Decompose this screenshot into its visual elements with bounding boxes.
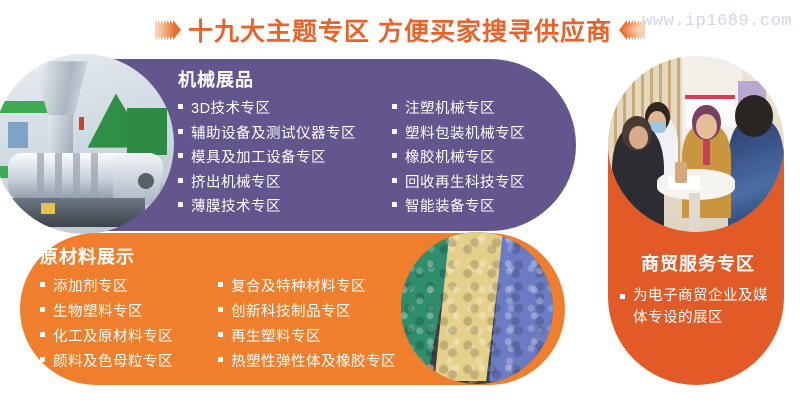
business-meeting-photo (608, 56, 784, 232)
list-item[interactable]: 为电子商贸企业及媒体专设的展区 (620, 286, 776, 330)
list-item-label: 为电子商贸企业及媒体专设的展区 (633, 286, 776, 330)
list-item[interactable]: 生物塑料专区 (40, 300, 218, 321)
list-item-label: 挤出机械专区 (191, 171, 281, 192)
bullet-square-icon (218, 307, 223, 312)
machinery-column-1: 3D技术专区 辅助设备及测试仪器专区 模具及加工设备专区 挤出机械专区 薄膜技术… (178, 97, 392, 220)
bullet-square-icon (392, 153, 397, 158)
list-item[interactable]: 颜料及色母粒专区 (40, 350, 218, 371)
list-item-label: 薄膜技术专区 (191, 195, 281, 216)
list-item-label: 塑料包装机械专区 (405, 122, 525, 143)
list-item[interactable]: 3D技术专区 (178, 97, 392, 118)
machinery-column-2: 注塑机械专区 塑料包装机械专区 橡胶机械专区 回收再生科技专区 智能装备专区 (392, 97, 525, 220)
bullet-square-icon (178, 153, 183, 158)
services-zone-heading: 商贸服务专区 (620, 250, 776, 276)
list-item-label: 3D技术专区 (191, 97, 271, 118)
list-item-label: 回收再生科技专区 (405, 171, 525, 192)
list-item-label: 注塑机械专区 (405, 97, 495, 118)
bullet-square-icon (218, 282, 223, 287)
chevrons-right-icon (155, 17, 176, 43)
bullet-square-icon (178, 129, 183, 134)
list-item[interactable]: 复合及特种材料专区 (218, 275, 396, 296)
list-item-label: 智能装备专区 (405, 195, 495, 216)
site-watermark: www.ip1689.com (642, 12, 792, 31)
list-item[interactable]: 智能装备专区 (392, 195, 525, 216)
bullet-square-icon (40, 307, 45, 312)
materials-column-1: 添加剂专区 生物塑料专区 化工及原材料专区 颜料及色母粒专区 (40, 275, 218, 375)
banner-root: 十九大主题专区 方便买家搜寻供应商 www.ip1689.com (0, 0, 800, 404)
list-item-label: 添加剂专区 (53, 275, 128, 296)
bullet-square-icon (40, 332, 45, 337)
list-item-label: 模具及加工设备专区 (191, 146, 326, 167)
materials-zone-content: 原材料展示 添加剂专区 生物塑料专区 化工及原材料专区 颜料及色母粒专区 (40, 243, 460, 375)
list-item[interactable]: 热塑性弹性体及橡胶专区 (218, 350, 396, 371)
list-item[interactable]: 注塑机械专区 (392, 97, 525, 118)
list-item-label: 颜料及色母粒专区 (53, 350, 173, 371)
list-item-label: 热塑性弹性体及橡胶专区 (231, 350, 396, 371)
list-item-label: 创新科技制品专区 (231, 300, 351, 321)
list-item-label: 辅助设备及测试仪器专区 (191, 122, 356, 143)
bullet-square-icon (178, 104, 183, 109)
list-item[interactable]: 模具及加工设备专区 (178, 146, 392, 167)
bullet-square-icon (40, 282, 45, 287)
list-item[interactable]: 化工及原材料专区 (40, 325, 218, 346)
list-item[interactable]: 薄膜技术专区 (178, 195, 392, 216)
bullet-square-icon (620, 294, 625, 299)
bullet-square-icon (178, 178, 183, 183)
bullet-square-icon (218, 357, 223, 362)
machinery-zone-content: 机械展品 3D技术专区 辅助设备及测试仪器专区 模具及加工设备专区 挤出机械专区 (178, 66, 570, 220)
list-item[interactable]: 塑料包装机械专区 (392, 122, 525, 143)
bullet-square-icon (392, 129, 397, 134)
list-item[interactable]: 再生塑料专区 (218, 325, 396, 346)
list-item-label: 橡胶机械专区 (405, 146, 495, 167)
list-item-label: 生物塑料专区 (53, 300, 143, 321)
bullet-square-icon (392, 178, 397, 183)
list-item[interactable]: 橡胶机械专区 (392, 146, 525, 167)
page-title: 十九大主题专区 方便买家搜寻供应商 (188, 12, 612, 48)
materials-zone-heading: 原材料展示 (40, 243, 460, 269)
bullet-square-icon (392, 202, 397, 207)
materials-column-2: 复合及特种材料专区 创新科技制品专区 再生塑料专区 热塑性弹性体及橡胶专区 (218, 275, 396, 375)
list-item[interactable]: 辅助设备及测试仪器专区 (178, 122, 392, 143)
machinery-zone-heading: 机械展品 (178, 66, 570, 92)
bullet-square-icon (392, 104, 397, 109)
list-item[interactable]: 创新科技制品专区 (218, 300, 396, 321)
list-item[interactable]: 回收再生科技专区 (392, 171, 525, 192)
bullet-square-icon (40, 357, 45, 362)
bullet-square-icon (178, 202, 183, 207)
list-item-label: 复合及特种材料专区 (231, 275, 366, 296)
machinery-photo (0, 54, 174, 234)
list-item-label: 化工及原材料专区 (53, 325, 173, 346)
list-item-label: 再生塑料专区 (231, 325, 321, 346)
bullet-square-icon (218, 332, 223, 337)
list-item[interactable]: 挤出机械专区 (178, 171, 392, 192)
list-item[interactable]: 添加剂专区 (40, 275, 218, 296)
services-zone-content: 商贸服务专区 为电子商贸企业及媒体专设的展区 (620, 250, 776, 330)
